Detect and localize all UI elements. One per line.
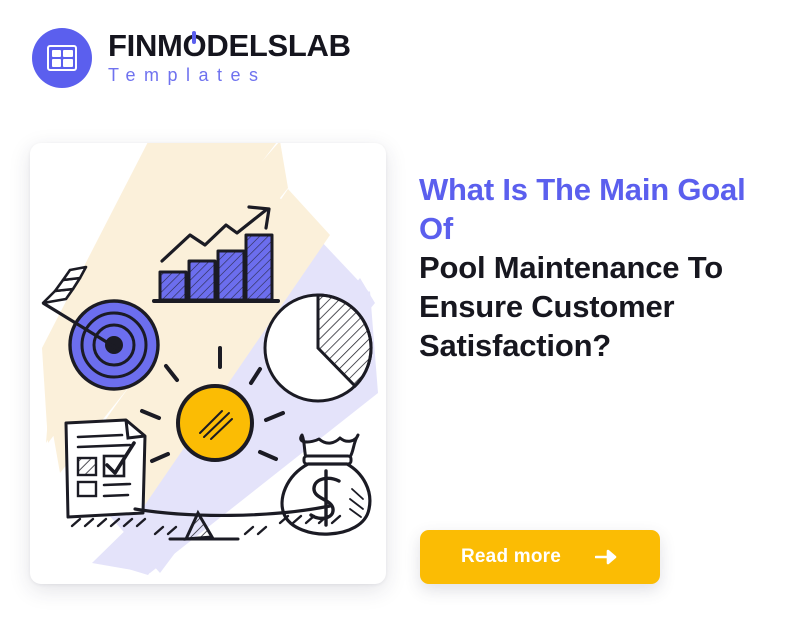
checklist-document-icon [66,420,145,517]
logo-mark [32,28,92,88]
pie-chart-icon [265,295,371,401]
headline-block: What Is The Main Goal Of Pool Maintenanc… [419,170,759,365]
coin-icon [178,386,252,460]
blog-promo-card: FINMODELSLAB Templates [0,0,800,618]
brand-name-text: FINMODELSLAB [108,28,351,63]
brand-name: FINMODELSLAB [108,30,351,63]
business-analytics-illustration [30,143,386,584]
headline-main: Pool Maintenance To Ensure Customer Sati… [419,248,759,365]
illustration-card [30,143,386,584]
read-more-label: Read more [461,546,561,568]
power-bar-icon [192,31,196,44]
arrow-right-icon [595,549,619,565]
brand-logo[interactable]: FINMODELSLAB Templates [32,28,351,88]
grid-squares-icon [47,45,77,71]
brand-wordmark: FINMODELSLAB Templates [108,30,351,85]
headline-lead: What Is The Main Goal Of [419,170,759,248]
read-more-button[interactable]: Read more [420,530,660,584]
brand-tagline: Templates [108,66,351,86]
page-title: What Is The Main Goal Of Pool Maintenanc… [419,170,759,365]
